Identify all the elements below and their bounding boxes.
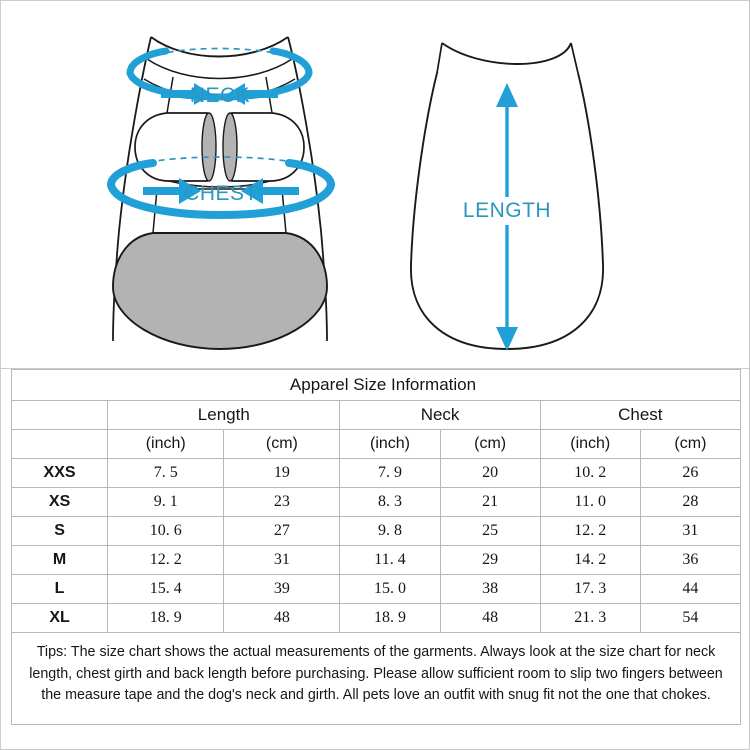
- row-neck-inch: 9. 8: [340, 517, 440, 546]
- tips-row: Tips: The size chart shows the actual me…: [12, 633, 741, 725]
- group-header-length: Length: [108, 401, 340, 430]
- row-chest-inch: 14. 2: [540, 546, 640, 575]
- row-length-inch: 9. 1: [108, 488, 224, 517]
- size-table-panel: Apparel Size Information Length Neck Che…: [1, 369, 749, 725]
- row-neck-inch: 18. 9: [340, 604, 440, 633]
- row-length-cm: 48: [224, 604, 340, 633]
- table-row: S 10. 6 27 9. 8 25 12. 2 31: [12, 517, 741, 546]
- unit-header-length-inch: (inch): [108, 430, 224, 459]
- row-chest-inch: 17. 3: [540, 575, 640, 604]
- group-header-blank: [12, 401, 108, 430]
- size-chart-page: NECK CHEST: [0, 0, 750, 750]
- row-length-inch: 7. 5: [108, 459, 224, 488]
- row-neck-cm: 48: [440, 604, 540, 633]
- row-chest-inch: 10. 2: [540, 459, 640, 488]
- row-size: M: [12, 546, 108, 575]
- row-chest-cm: 31: [640, 517, 740, 546]
- row-length-inch: 12. 2: [108, 546, 224, 575]
- front-view-garment: NECK CHEST: [111, 37, 331, 349]
- diagram-panel: NECK CHEST: [1, 1, 749, 369]
- table-row: XS 9. 1 23 8. 3 21 11. 0 28: [12, 488, 741, 517]
- table-title: Apparel Size Information: [12, 370, 741, 401]
- chest-label: CHEST: [184, 182, 258, 205]
- neck-label: NECK: [190, 84, 250, 107]
- length-label: LENGTH: [463, 199, 551, 222]
- row-neck-inch: 7. 9: [340, 459, 440, 488]
- row-chest-inch: 12. 2: [540, 517, 640, 546]
- tips-text: Tips: The size chart shows the actual me…: [12, 633, 741, 725]
- row-neck-cm: 21: [440, 488, 540, 517]
- row-neck-inch: 11. 4: [340, 546, 440, 575]
- row-length-cm: 23: [224, 488, 340, 517]
- row-size: XXS: [12, 459, 108, 488]
- unit-header-blank: [12, 430, 108, 459]
- row-size: S: [12, 517, 108, 546]
- row-length-cm: 19: [224, 459, 340, 488]
- unit-header-neck-inch: (inch): [340, 430, 440, 459]
- body-shade: [113, 233, 327, 349]
- row-neck-inch: 8. 3: [340, 488, 440, 517]
- row-length-inch: 18. 9: [108, 604, 224, 633]
- table-row: XXS 7. 5 19 7. 9 20 10. 2 26: [12, 459, 741, 488]
- unit-header-chest-inch: (inch): [540, 430, 640, 459]
- row-neck-cm: 29: [440, 546, 540, 575]
- row-chest-inch: 21. 3: [540, 604, 640, 633]
- back-view-garment: LENGTH: [411, 43, 603, 351]
- table-row: M 12. 2 31 11. 4 29 14. 2 36: [12, 546, 741, 575]
- row-chest-cm: 44: [640, 575, 740, 604]
- row-chest-cm: 54: [640, 604, 740, 633]
- apparel-size-table: Apparel Size Information Length Neck Che…: [11, 369, 741, 725]
- left-sleeve-opening: [202, 113, 216, 181]
- row-length-cm: 31: [224, 546, 340, 575]
- unit-header-length-cm: (cm): [224, 430, 340, 459]
- row-size: XL: [12, 604, 108, 633]
- row-length-inch: 15. 4: [108, 575, 224, 604]
- row-size: L: [12, 575, 108, 604]
- unit-header-neck-cm: (cm): [440, 430, 540, 459]
- unit-header-row: (inch) (cm) (inch) (cm) (inch) (cm): [12, 430, 741, 459]
- unit-header-chest-cm: (cm): [640, 430, 740, 459]
- row-length-inch: 10. 6: [108, 517, 224, 546]
- row-chest-inch: 11. 0: [540, 488, 640, 517]
- table-title-row: Apparel Size Information: [12, 370, 741, 401]
- row-neck-cm: 25: [440, 517, 540, 546]
- row-chest-cm: 26: [640, 459, 740, 488]
- group-header-neck: Neck: [340, 401, 540, 430]
- row-length-cm: 39: [224, 575, 340, 604]
- table-row: L 15. 4 39 15. 0 38 17. 3 44: [12, 575, 741, 604]
- row-chest-cm: 28: [640, 488, 740, 517]
- row-neck-cm: 38: [440, 575, 540, 604]
- row-neck-inch: 15. 0: [340, 575, 440, 604]
- right-sleeve-opening: [223, 113, 237, 181]
- group-header-row: Length Neck Chest: [12, 401, 741, 430]
- row-chest-cm: 36: [640, 546, 740, 575]
- group-header-chest: Chest: [540, 401, 740, 430]
- row-size: XS: [12, 488, 108, 517]
- row-neck-cm: 20: [440, 459, 540, 488]
- row-length-cm: 27: [224, 517, 340, 546]
- table-row: XL 18. 9 48 18. 9 48 21. 3 54: [12, 604, 741, 633]
